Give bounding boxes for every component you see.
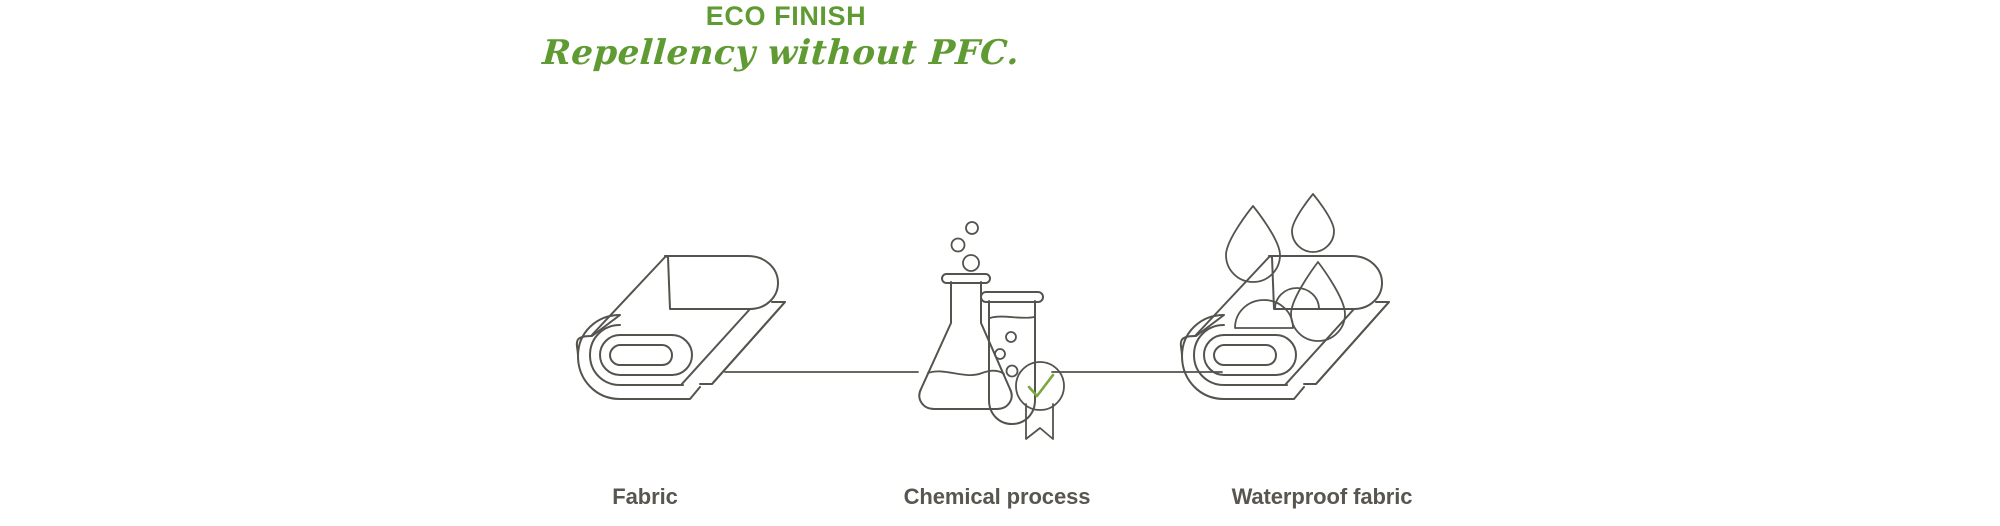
flask-and-test-tube-icon bbox=[919, 222, 1064, 439]
bubble-icon bbox=[1007, 366, 1018, 377]
step-label-fabric: Fabric bbox=[612, 484, 677, 510]
bubble-icon bbox=[963, 255, 979, 271]
process-diagram bbox=[0, 0, 2000, 526]
bubble-icon bbox=[952, 239, 965, 252]
bubble-icon bbox=[966, 222, 978, 234]
eco-check-badge bbox=[1016, 362, 1064, 439]
eco-finish-infographic: ECO FINISH Repellency without PFC. bbox=[0, 0, 2000, 526]
beaded-droplet-icon bbox=[1235, 300, 1293, 328]
folded-fabric-icon bbox=[577, 256, 785, 399]
fabric-with-water-droplets-icon bbox=[1181, 194, 1389, 399]
bubble-icon bbox=[1006, 332, 1016, 342]
water-droplet-icon bbox=[1292, 194, 1334, 252]
badge-circle bbox=[1016, 362, 1064, 410]
bubble-icon bbox=[995, 349, 1005, 359]
check-icon bbox=[1029, 375, 1053, 396]
step-label-waterproof-fabric: Waterproof fabric bbox=[1232, 484, 1413, 510]
step-label-chemical-process: Chemical process bbox=[904, 484, 1091, 510]
